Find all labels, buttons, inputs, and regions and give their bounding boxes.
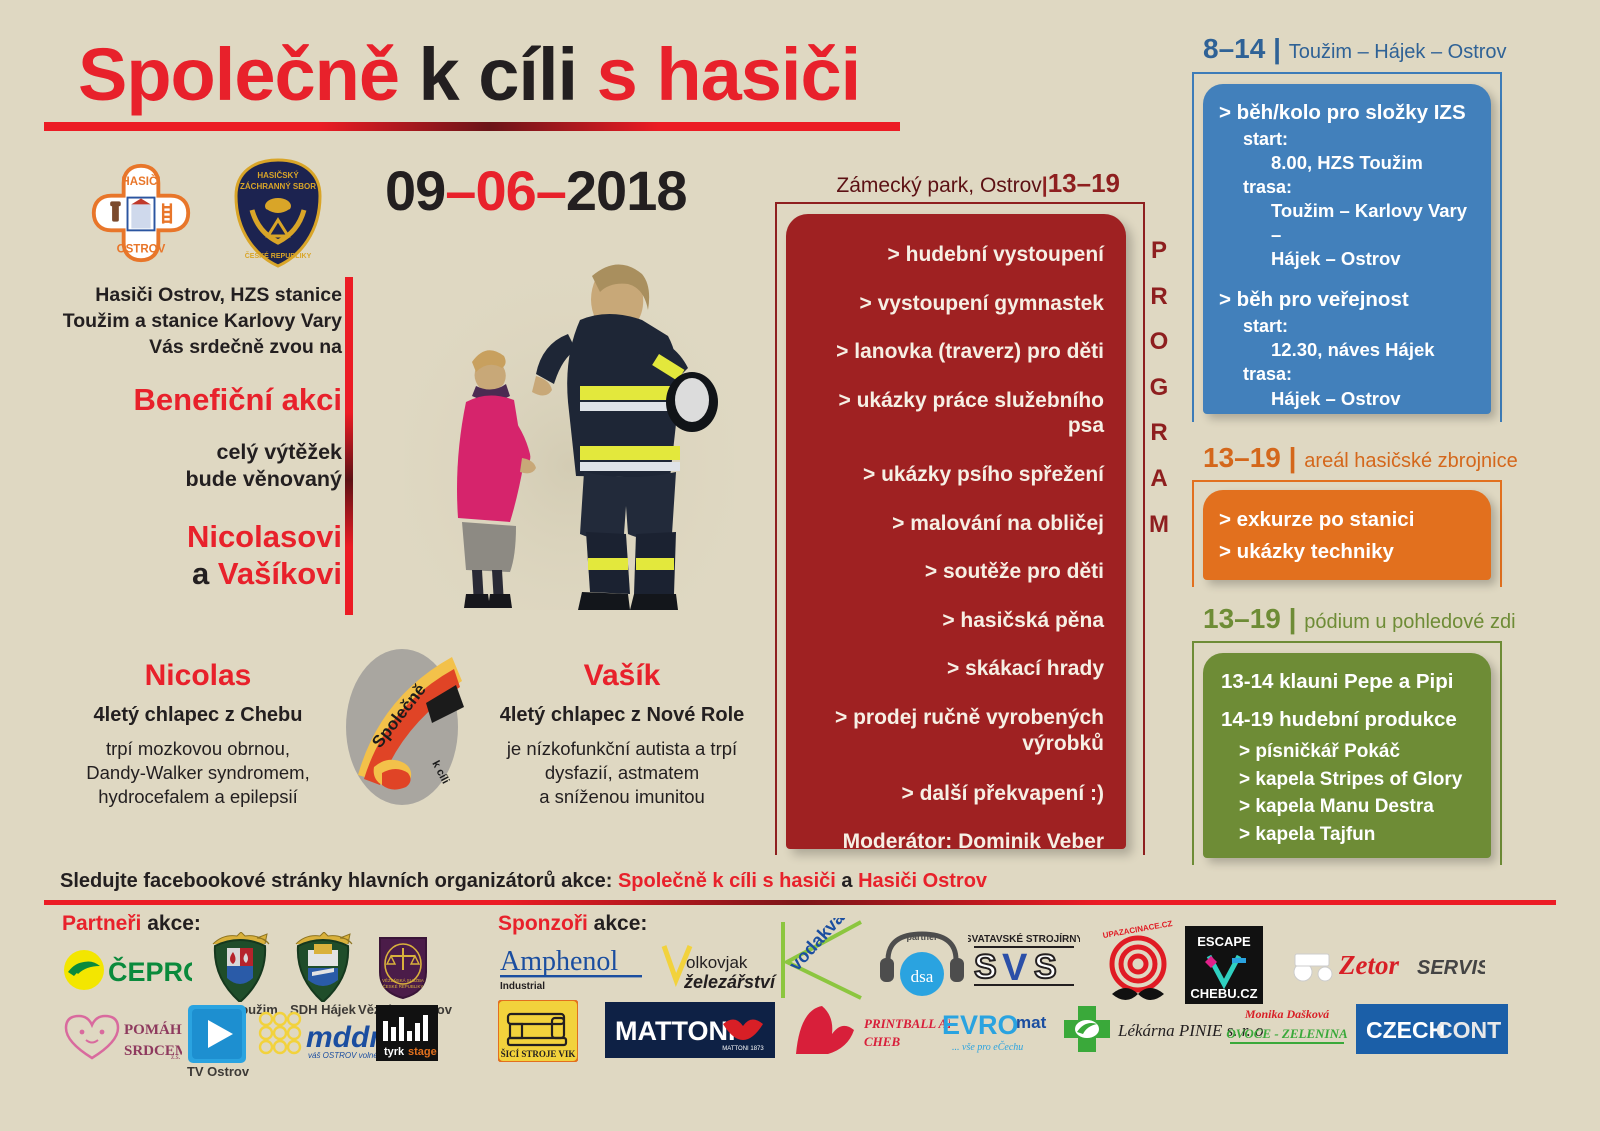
date-sep-2: – [536,159,566,222]
svg-text:SERVIS: SERVIS [1417,957,1485,979]
svg-text:stage: stage [408,1046,437,1058]
zetor-servis-logo: Zetor SERVIS [1285,940,1485,988]
invitation-block: Hasiči Ostrov, HZS stanice Toužim a stan… [62,283,342,592]
program-item: > prodej ručně vyrobených výrobků [804,705,1104,756]
program-item: > lanovka (traverz) pro děti [804,339,1104,365]
svg-text:ŠICÍ STROJE VIK: ŠICÍ STROJE VIK [501,1049,576,1059]
program-item: > malování na obličej [804,511,1104,537]
beneficiary-joiner: a [192,556,218,591]
sici-stroje-vik-logo: ŠICÍ STROJE VIK [498,1000,578,1062]
run-section-header: 8–14 | Toužim – Hájek – Ostrov [1203,33,1507,65]
veznice-ostrov-crest: VĚZEŇSKÁ SLUŽBA ČESKÉ REPUBLIKY [372,932,434,1000]
run-start-label: start: [1243,314,1477,338]
run-route-value: Hájek – Ostrov [1271,387,1477,411]
stage-act: > kapela Stripes of Glory [1239,766,1479,794]
czechcont-logo: CZECH CONT [1356,1004,1508,1054]
stage-place: pódium u pohledové zdi [1304,611,1515,633]
svg-text:... vše pro eČechu: ... vše pro eČechu [952,1041,1023,1053]
run-entry-title: > běh/kolo pro složky IZS [1219,100,1477,127]
svg-text:ČESKÉ REPUBLIKY: ČESKÉ REPUBLIKY [383,984,424,989]
svg-text:POMÁHEJ: POMÁHEJ [124,1021,182,1038]
station-place: areál hasičské zbrojnice [1304,450,1517,472]
svg-text:CHEBU.CZ: CHEBU.CZ [1190,986,1257,1001]
run-entry-title: > běh pro veřejnost [1219,287,1477,314]
svatavske-strojirny-logo: SVATAVSKÉ STROJÍRNY S V S [968,930,1080,992]
program-item: > skákací hrady [804,656,1104,682]
svg-text:V: V [1002,947,1028,989]
svg-text:CONT: CONT [1436,1017,1501,1043]
svg-text:dsa: dsa [911,967,934,986]
svg-text:MATTONI 1873: MATTONI 1873 [722,1046,764,1052]
headline-divider [44,122,900,131]
beneficiary-who: 4letý chlapec z Chebu [48,704,348,727]
svg-text:CHEB: CHEB [864,1034,900,1049]
dsa-partner-logo: dsa partner [876,926,968,1000]
svg-text:Monika Dašková: Monika Dašková [1244,1007,1330,1021]
sdh-hajek-crest [290,932,356,1002]
vodakva-logo: vodakva [775,918,865,1002]
run-route-label: trasa: [1243,175,1477,199]
svg-text:Amphenol: Amphenol [500,946,618,977]
beneficiary-name: Vašík [472,660,772,692]
date-day: 09 [385,159,445,222]
printball-arena-cheb-logo: PRINTBALL ARENA CHEB [790,1002,950,1058]
program-venue-label: Zámecký park, Ostrov|13–19 [760,168,1120,199]
station-item: > ukázky techniky [1219,536,1479,568]
program-moderator: Moderátor: Dominik Veber [804,830,1104,854]
proceeds-line-1: celý výtěžek [62,439,342,467]
stage-act: > kapela Tajfun [1239,821,1479,849]
evromat-logo: EVRO mat ... vše pro eČechu [940,1002,1060,1058]
date-sep-1: – [445,159,475,222]
title-part-red-2: s hasiči [597,33,861,116]
run-start-label: start: [1243,127,1477,151]
tyrkstage-logo: tyrk stage [376,1005,438,1061]
program-item: > vystoupení gymnastek [804,291,1104,317]
svg-text:mat: mat [1016,1013,1047,1032]
benefit-heading: Benefiční akci [62,383,342,417]
svg-text:vodakva: vodakva [785,918,849,975]
program-box: > hudební vystoupení > vystoupení gymnas… [786,214,1126,849]
tv-ostrov-logo [188,1005,246,1063]
stage-slot: 13-14 klauni Pepe a Pipi [1221,669,1479,695]
sponsors-title-dark: akce: [588,912,648,935]
invite-line-1: Hasiči Ostrov, HZS stanice [62,283,342,309]
page-title: Společně k cíli s hasiči [78,38,860,112]
svg-text:Industrial: Industrial [500,981,545,992]
svg-text:z.s.: z.s. [171,1053,181,1061]
poster-canvas: Společně k cíli s hasiči HASIČI OSTROV H… [0,0,1600,1131]
stage-pipe: | [1281,603,1304,634]
hasici-ostrov-crest-icon: HASIČI OSTROV [88,160,194,266]
svg-text:tyrk: tyrk [384,1046,405,1058]
beneficiary-desc: je nízkofunkční autista a trpí dysfazií,… [472,737,772,809]
stage-section-header: 13–19 | pódium u pohledové zdi [1203,603,1516,635]
partners-title-dark: akce: [141,912,201,935]
svg-text:ESCAPE: ESCAPE [1197,934,1251,949]
station-section-header: 13–19 | areál hasičské zbrojnice [1203,442,1518,474]
amphenol-logo: Amphenol Industrial [498,942,648,994]
title-part-dark: k cíli [399,33,597,116]
tv-ostrov-caption: TV Ostrov [178,1064,258,1079]
beneficiary-2: Vašíkovi [218,556,342,591]
beneficiary-card-vasik: Vašík 4letý chlapec z Nové Role je nízko… [472,660,772,809]
beneficiary-1: Nicolasovi [62,518,342,555]
beneficiary-name: Nicolas [48,660,348,692]
program-item: > hudební vystoupení [804,242,1104,268]
proceeds-line-2: bude věnovaný [62,466,342,494]
svg-text:S: S [974,948,997,986]
ovoce-zelenina-logo: Monika Dašková OVOCE - ZELENINA [1222,1002,1352,1052]
svg-text:S: S [1034,948,1057,986]
beneficiary-card-nicolas: Nicolas 4letý chlapec z Chebu trpí mozko… [48,660,348,809]
beneficiary-desc: trpí mozkovou obrnou, Dandy-Walker syndr… [48,737,348,809]
station-box: > exkurze po stanici > ukázky techniky [1203,490,1491,580]
upazacinace-cz-logo: UPAZACINACE.CZ [1098,920,1178,1006]
station-pipe: | [1281,442,1304,473]
spolecne-k-cili-handshake-logo: Společně k cíli [340,645,465,810]
svg-text:MATTONI: MATTONI [615,1016,736,1046]
svg-text:EVRO: EVRO [942,1010,1019,1040]
facebook-prefix: Sledujte facebookové stránky hlavních or… [60,870,618,892]
svg-text:ČESKÉ REPUBLIKY: ČESKÉ REPUBLIKY [245,251,312,260]
date-month: 06 [475,159,535,222]
event-date: 09–06–2018 [385,158,686,223]
invite-accent-bar [345,277,353,615]
svg-text:partner: partner [906,932,938,942]
svg-text:OVOCE - ZELENINA: OVOCE - ZELENINA [1226,1026,1348,1041]
footer-divider [44,900,1556,905]
run-pipe: | [1265,33,1288,64]
run-box: > běh/kolo pro složky IZS start: 8.00, H… [1203,84,1491,414]
run-route-value: Toužim – Karlovy Vary – Hájek – Ostrov [1271,199,1477,271]
svg-text:olkovjak: olkovjak [686,953,748,972]
firefighter-and-child-photo [404,250,734,610]
facebook-line: Sledujte facebookové stránky hlavních or… [60,870,987,893]
run-hours: 8–14 [1203,33,1265,64]
run-start-value: 8.00, HZS Toužim [1271,151,1477,175]
venue-hours: 13–19 [1048,168,1120,198]
facebook-page-2[interactable]: Hasiči Ostrov [858,870,987,892]
stage-hours: 13–19 [1203,603,1281,634]
facebook-page-1[interactable]: Společně k cíli s hasiči [618,870,836,892]
svg-text:HASIČI: HASIČI [121,175,160,188]
pomahej-srdcem-logo: POMÁHEJ SRDCEM z.s. [62,1010,182,1066]
date-year: 2018 [566,159,687,222]
title-part-red-1: Společně [78,33,399,116]
partners-title: Partneři akce: [62,912,201,936]
svg-text:HASIČSKÝ: HASIČSKÝ [257,171,299,180]
station-item: > exkurze po stanici [1219,504,1479,536]
cepro-logo: ČEPRO [62,948,192,992]
mattoni-logo: MATTONI MATTONI 1873 [605,1002,775,1058]
beneficiary-who: 4letý chlapec z Nové Role [472,704,772,727]
svg-text:PRINTBALL ARENA: PRINTBALL ARENA [864,1016,950,1031]
escape-chebu-cz-logo: ESCAPE CHEBU.CZ [1185,926,1263,1004]
svg-text:VĚZEŇSKÁ SLUŽBA: VĚZEŇSKÁ SLUŽBA [382,978,424,983]
stage-act: > kapela Manu Destra [1239,793,1479,821]
facebook-joiner: a [836,870,858,892]
sdh-touzim-crest [207,932,273,1002]
hzs-cr-crest-icon: HASIČSKÝ ZÁCHRANNÝ SBOR ČESKÉ REPUBLIKY [232,158,324,268]
svg-text:Zetor: Zetor [1338,950,1399,980]
stage-slot: 14-19 hudební produkce [1221,707,1479,733]
run-route-label: trasa: [1243,362,1477,386]
program-item: > další překvapení :) [804,781,1104,807]
svg-text:ČEPRO: ČEPRO [108,956,192,987]
svg-text:OSTROV: OSTROV [117,244,166,256]
svg-text:CZECH: CZECH [1366,1017,1445,1043]
stage-act: > písničkář Pokáč [1239,738,1479,766]
invite-line-2: Toužim a stanice Karlovy Vary [62,309,342,335]
run-start-value: 12.30, náves Hájek [1271,338,1477,362]
sponsors-title: Sponzoři akce: [498,912,647,936]
sponsors-title-red: Sponzoři [498,912,588,935]
program-vertical-label: PROGRAM [1144,228,1174,547]
svg-text:železářství: železářství [683,972,777,992]
station-hours: 13–19 [1203,442,1281,473]
program-item: > ukázky psího spřežení [804,462,1104,488]
stage-box: 13-14 klauni Pepe a Pipi 14-19 hudební p… [1203,653,1491,858]
run-place: Toužim – Hájek – Ostrov [1289,41,1507,63]
program-item: > ukázky práce služebního psa [804,388,1104,439]
partners-title-red: Partneři [62,912,141,935]
invite-line-3: Vás srdečně zvou na [62,335,342,361]
venue-text: Zámecký park, Ostrov [836,174,1041,197]
program-item: > hasičská pěna [804,608,1104,634]
program-item: > soutěže pro děti [804,559,1104,585]
svg-text:SVATAVSKÉ STROJÍRNY: SVATAVSKÉ STROJÍRNY [968,932,1080,945]
svg-text:ZÁCHRANNÝ SBOR: ZÁCHRANNÝ SBOR [240,182,316,191]
